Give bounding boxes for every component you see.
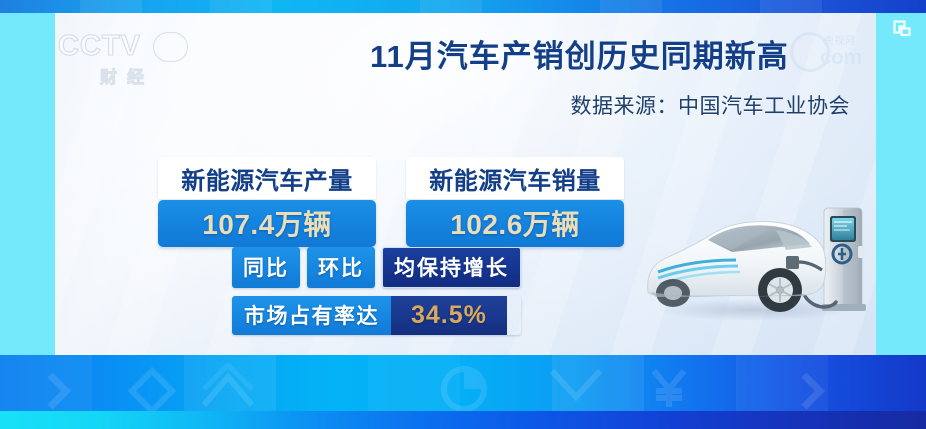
chevron-right-icon (36, 369, 80, 413)
market-share-label: 市场占有率达 (232, 296, 391, 335)
left-cyan-band (0, 13, 55, 355)
stat-card-group: 新能源汽车产量 107.4万辆 新能源汽车销量 102.6万辆 (158, 157, 628, 235)
badge-group: 同比 环比 均保持增长 市场占有率达 34.5% (232, 247, 521, 335)
badge-mom: 环比 (307, 247, 375, 288)
charge-port (786, 256, 799, 269)
chevron-up-icon (200, 363, 256, 413)
page-title: 11月汽车产销创历史同期新高 (370, 38, 850, 76)
stat-card-value: 102.6万辆 (406, 200, 624, 247)
electric-car-charging-illustration (636, 196, 898, 326)
stat-card-label: 新能源汽车销量 (406, 157, 624, 199)
rear-wheel (656, 279, 690, 307)
car-shadow (658, 299, 850, 321)
market-share-value: 34.5% (391, 296, 507, 335)
front-wheel (758, 268, 802, 312)
comparison-badge-row: 同比 环比 均保持增长 (232, 247, 521, 288)
market-share-row: 市场占有率达 34.5% (232, 296, 521, 335)
stat-card-value: 107.4万辆 (158, 200, 376, 247)
stat-card-sales: 新能源汽车销量 102.6万辆 (406, 157, 624, 247)
top-gradient-strip (0, 0, 926, 13)
window-restore-icon[interactable] (893, 20, 915, 39)
chevron-down-icon (548, 367, 604, 405)
data-source-subtitle: 数据来源：中国汽车工业协会 (370, 90, 850, 120)
bottom-banner (0, 355, 926, 429)
pie-chart-icon (440, 365, 488, 413)
electric-car (648, 222, 826, 313)
yen-icon (646, 365, 692, 413)
badge-growth-conclusion: 均保持增长 (382, 247, 521, 288)
badge-yoy: 同比 (232, 247, 300, 288)
charging-station (822, 208, 866, 311)
chevron-right-icon (790, 369, 834, 413)
bottom-accent-strip (0, 411, 926, 429)
broadcast-graphic-stage: CCTV 财经 央视网 com 11月汽车产销创历史同期新高 数据来源：中国汽车… (0, 0, 926, 429)
stat-card-label: 新能源汽车产量 (158, 157, 376, 199)
stat-card-production: 新能源汽车产量 107.4万辆 (158, 157, 376, 247)
diamond-icon (128, 367, 176, 415)
